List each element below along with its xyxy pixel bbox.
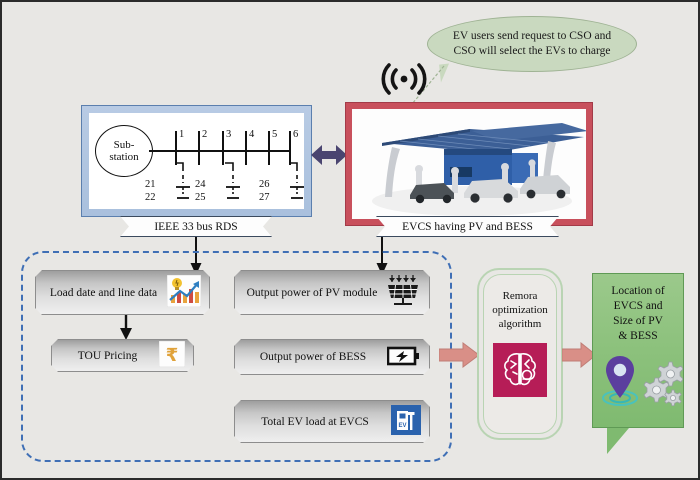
evcs-illustration (352, 109, 586, 219)
battery-icon (387, 346, 421, 369)
evcs-panel (345, 102, 593, 226)
block-tou-label: TOU Pricing (60, 350, 155, 362)
output-callout-label: Location of EVCS and Size of PV & BESS (593, 274, 683, 344)
solar-panel-icon (385, 274, 421, 311)
substation-label-line2: station (109, 151, 138, 164)
rds-schematic: Sub- station 1 2 3 4 5 6 (89, 113, 304, 209)
branch-label-27: 27 (259, 192, 270, 203)
output-line4: & BESS (599, 329, 677, 344)
block-pv-label: Output power of PV module (243, 287, 381, 299)
map-pin-icon (599, 352, 645, 408)
figure-canvas: EV users send request to CSO and CSO wil… (0, 0, 700, 480)
algorithm-frame: Remora optimization algorithm (477, 268, 563, 440)
bus-label-6: 6 (293, 129, 298, 140)
lateral-tap-group-3 (277, 161, 311, 207)
algorithm-label: Remora optimization algorithm (492, 289, 548, 331)
bus-label-2: 2 (202, 129, 207, 140)
bus-label-1: 1 (179, 129, 184, 140)
substation-label-line1: Sub- (109, 139, 138, 152)
cso-callout-line2: CSO will select the EVs to charge (453, 44, 611, 59)
output-line1: Location of (599, 284, 677, 299)
bus-label-5: 5 (272, 129, 277, 140)
block-pv-output-power[interactable]: Output power of PV module (234, 270, 430, 315)
bar-chart-growth-icon (167, 275, 201, 310)
bus-label-4: 4 (249, 129, 254, 140)
bus-bar-4 (245, 131, 247, 165)
algorithm-label-line1: Remora (492, 289, 548, 303)
block-bess-label: Output power of BESS (243, 351, 383, 363)
arrow-inputs-to-algorithm (439, 342, 479, 368)
block-load-and-line-data[interactable]: Load date and line data (35, 270, 210, 315)
output-callout-tail (607, 428, 629, 454)
output-line3: Size of PV (599, 314, 677, 329)
block-total-ev-load[interactable]: Total EV load at EVCS EV (234, 400, 430, 443)
bidirectional-arrow-icon (311, 142, 347, 168)
branch-label-26: 26 (259, 179, 270, 190)
gears-icon (643, 360, 683, 406)
branch-label-21: 21 (145, 179, 156, 190)
algorithm-label-line2: optimization (492, 303, 548, 317)
algorithm-inner: Remora optimization algorithm (483, 274, 557, 434)
bus-bar-2 (198, 131, 200, 165)
substation-node: Sub- station (95, 125, 153, 177)
bus-bar-6 (289, 131, 291, 165)
block-load-label: Load date and line data (44, 287, 163, 299)
lateral-tap-group-1 (163, 161, 197, 207)
rupee-icon: ₹ (159, 341, 185, 370)
bus-label-3: 3 (226, 129, 231, 140)
ev-charger-icon: EV (391, 405, 421, 438)
evcs-banner: EVCS having PV and BESS (376, 216, 559, 237)
block-evload-label: Total EV load at EVCS (243, 416, 387, 428)
arrow-algorithm-to-output (562, 342, 596, 368)
arrow-load-to-tou (119, 315, 133, 340)
ieee-rds-panel: Sub- station 1 2 3 4 5 6 (81, 105, 312, 217)
output-callout: Location of EVCS and Size of PV & BESS (592, 273, 684, 428)
ai-brain-icon (493, 343, 547, 397)
cso-callout-bubble: EV users send request to CSO and CSO wil… (427, 16, 637, 72)
bus-bar-1 (175, 131, 177, 165)
branch-label-25: 25 (195, 192, 206, 203)
svg-text:₹: ₹ (166, 345, 179, 366)
lateral-tap-group-2 (213, 161, 247, 207)
branch-label-22: 22 (145, 192, 156, 203)
rds-banner: IEEE 33 bus RDS (120, 216, 272, 237)
algorithm-label-line3: algorithm (492, 317, 548, 331)
svg-text:EV: EV (398, 423, 406, 429)
bus-bar-5 (268, 131, 270, 165)
wireless-signal-icon (376, 62, 432, 96)
bus-bar-3 (222, 131, 224, 165)
branch-label-24: 24 (195, 179, 206, 190)
evcs-solar-canopy-graphic (352, 109, 586, 219)
output-line2: EVCS and (599, 299, 677, 314)
block-tou-pricing[interactable]: TOU Pricing ₹ (51, 339, 194, 372)
cso-callout-line1: EV users send request to CSO and (453, 29, 611, 44)
block-bess-output-power[interactable]: Output power of BESS (234, 339, 430, 375)
